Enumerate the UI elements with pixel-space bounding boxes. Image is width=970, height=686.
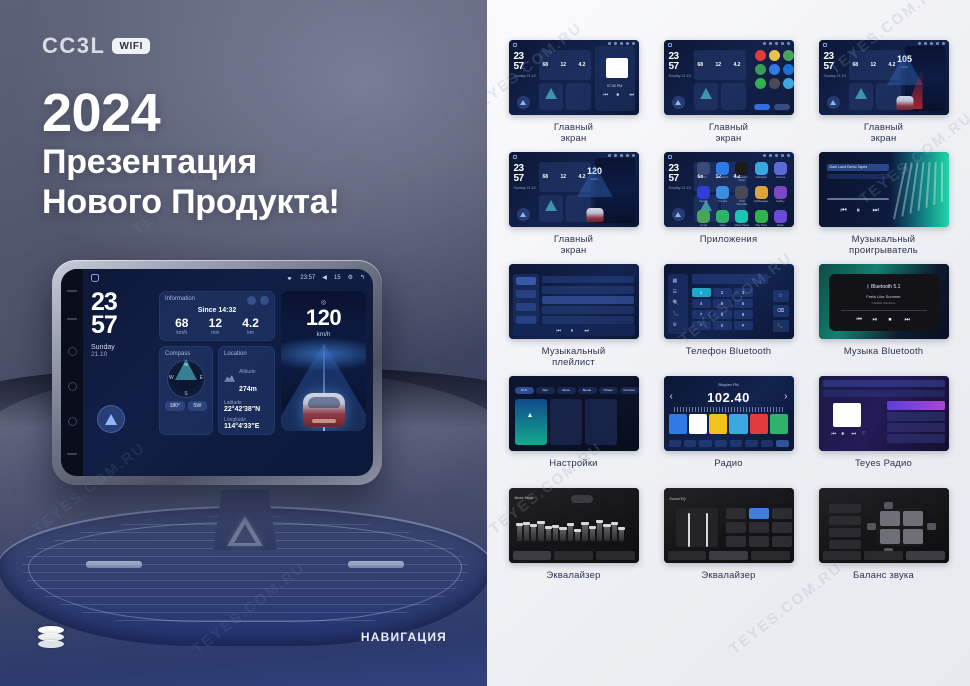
settings-tab[interactable]: Общие <box>599 387 618 394</box>
screenshot-thumbnail-bt-music[interactable]: ᛒ Bluetooth 5.1Feels Like SummerChildish… <box>819 264 949 339</box>
clock-date: Sunday 21.10 <box>514 186 536 191</box>
mini-player[interactable] <box>513 324 635 336</box>
sidebar-icon[interactable]: 🔍 <box>673 300 679 306</box>
toolbar-button[interactable] <box>715 440 727 447</box>
media-button[interactable]: ⏸ <box>571 328 574 334</box>
screenshot-thumbnail-home-apps[interactable]: 2357Sunday 21.1068124.2 <box>664 40 794 115</box>
navigation-arrow-icon[interactable] <box>827 96 840 109</box>
screenshot-thumbnail-player[interactable]: Dark Land Demo Tapes⏮⏸⏭ <box>819 152 949 227</box>
equalizer-band[interactable] <box>604 524 609 541</box>
status-icon <box>608 42 611 45</box>
home-icon[interactable] <box>513 43 517 47</box>
toolbar-button[interactable] <box>745 440 757 447</box>
dialpad-key[interactable]: * <box>692 321 711 330</box>
settings-tab[interactable]: Система <box>620 387 639 394</box>
app-icon[interactable] <box>697 186 710 199</box>
settings-tab[interactable]: Время <box>578 387 597 394</box>
balance-preset[interactable] <box>829 528 861 537</box>
status-icon <box>942 42 945 45</box>
status-icon <box>614 42 617 45</box>
bottom-tab[interactable] <box>751 551 790 560</box>
app-item[interactable]: Bluetooth <box>715 162 731 182</box>
hazard-triangle-inner <box>234 524 256 543</box>
status-icon <box>632 42 635 45</box>
settings-tab[interactable]: Экран <box>557 387 576 394</box>
preset-station[interactable] <box>770 414 788 434</box>
screenshot-thumbnail-dialer[interactable]: ▦☰🔍📞⚙123456789*0#☆⌫📞 <box>664 264 794 339</box>
station-row[interactable] <box>887 412 945 421</box>
side-button-back[interactable] <box>68 417 77 426</box>
vent-knob-left[interactable] <box>86 561 142 568</box>
equalizer-band[interactable] <box>612 522 617 541</box>
filter-tabs[interactable] <box>823 390 945 397</box>
compass-card[interactable]: Compass N E W S <box>159 346 213 435</box>
sidebar-item[interactable] <box>516 277 536 285</box>
dialer-action[interactable]: ⌫ <box>773 305 789 317</box>
radio-toolbar[interactable] <box>669 440 789 447</box>
presentation-slide: TEYES.COM.RU TEYES.COM.RU TEYES.COM.RU T… <box>0 0 970 686</box>
side-button-vol-up[interactable] <box>67 318 77 320</box>
media-button[interactable]: ⏭ <box>873 207 879 215</box>
sidebar-icon[interactable]: ☰ <box>673 289 677 295</box>
clock-widget: 2357 <box>514 52 524 71</box>
bottom-tab[interactable] <box>554 551 593 560</box>
station-row[interactable] <box>887 434 945 443</box>
app-icon[interactable] <box>755 64 766 75</box>
sidebar-icon[interactable]: ▦ <box>673 278 678 284</box>
media-widget[interactable] <box>595 46 635 111</box>
settings-tab[interactable]: Звук <box>536 387 555 394</box>
toolbar-button[interactable] <box>730 440 742 447</box>
radio-frequency: 102.40 <box>707 390 750 405</box>
sidebar-item[interactable] <box>516 290 536 298</box>
longitude-value: 114°4'33"E <box>224 423 269 430</box>
settings-card[interactable] <box>550 399 582 445</box>
navigation-arrow-icon[interactable] <box>517 208 530 221</box>
compass-cone <box>855 88 867 99</box>
status-time: 23:57 <box>300 275 315 281</box>
road-perspective <box>577 165 613 197</box>
bottom-tabs[interactable] <box>668 551 790 560</box>
thumbnail-caption: Приложения <box>700 234 758 258</box>
equalizer-band[interactable] <box>590 526 595 542</box>
information-actions[interactable] <box>247 296 269 305</box>
bottom-tab[interactable] <box>864 551 903 560</box>
settings-tab[interactable]: Wi-Fi <box>515 387 534 394</box>
eq-preset-button[interactable] <box>749 536 769 547</box>
stat-value: 12 <box>716 62 722 68</box>
app-item[interactable]: DVR Recorder <box>734 186 750 206</box>
clock-minutes: 57 <box>514 174 524 184</box>
dialpad-key[interactable]: 4 <box>692 299 711 308</box>
media-button[interactable]: ⏭ <box>630 92 635 98</box>
media-button[interactable]: ⏹ <box>889 317 892 324</box>
gallery-item: 2357Sunday 21.1068124.207:30 PM⏮⏹⏭Главны… <box>499 40 648 146</box>
thumbnail-caption: Музыкальныйплейлист <box>542 346 606 370</box>
station-row[interactable] <box>887 401 945 410</box>
location-card[interactable]: Location Altitude 274m <box>218 346 275 435</box>
location-longitude: Longitude 114°4'33"E <box>224 417 269 430</box>
status-icon <box>769 42 772 45</box>
app-item[interactable]: Wi-Fi <box>696 162 712 182</box>
navigation-arrow-icon[interactable] <box>672 208 685 221</box>
track-row[interactable] <box>542 316 634 324</box>
balance-arrow-right[interactable] <box>927 523 936 530</box>
product-logo: CC3L WIFI <box>42 33 150 59</box>
app-icon[interactable] <box>735 162 748 175</box>
balance-preset[interactable] <box>829 504 861 513</box>
app-item[interactable]: Gmail <box>696 210 712 227</box>
dialpad-key[interactable]: 5 <box>713 299 732 308</box>
toolbar-button[interactable] <box>776 440 788 447</box>
dialpad-key[interactable]: 8 <box>713 310 732 319</box>
track-row[interactable] <box>827 174 889 179</box>
app-label: Maps <box>715 224 731 227</box>
bottom-tab[interactable] <box>668 551 707 560</box>
side-button-power[interactable] <box>67 290 77 292</box>
bottom-tabs[interactable] <box>513 551 635 560</box>
dialer-action[interactable]: ☆ <box>773 290 789 302</box>
settings-card[interactable] <box>515 399 547 445</box>
bottom-tab[interactable] <box>906 551 945 560</box>
preset-station[interactable] <box>669 414 687 434</box>
app-icon[interactable] <box>769 50 780 61</box>
track-row[interactable] <box>542 296 634 304</box>
screenshot-thumbnail-home-dvr[interactable]: 2357Sunday 21.1068124.2105km/h <box>819 40 949 115</box>
home-icon[interactable] <box>91 274 99 282</box>
sidebar-icon[interactable]: 📞 <box>673 311 679 317</box>
app-icon[interactable] <box>774 210 787 223</box>
navigation-arrow-icon[interactable] <box>517 96 530 109</box>
stat-item: 12 min <box>209 317 222 336</box>
thumbnail-caption: Телефон Bluetooth <box>686 346 772 370</box>
app-icon[interactable] <box>755 50 766 61</box>
app-icon[interactable] <box>716 210 729 223</box>
equalizer-band[interactable] <box>597 520 602 541</box>
app-item[interactable]: Play Store <box>753 210 769 227</box>
compass-cone <box>545 200 557 211</box>
app-icon[interactable] <box>755 162 768 175</box>
gallery-item: ⏮⏹⏭♡Teyes Радио <box>809 376 958 482</box>
thumbnail-caption: Радио <box>714 458 742 482</box>
toolbar-button[interactable] <box>699 440 711 447</box>
speed-widget[interactable]: ◎ 120 km/h <box>281 291 366 431</box>
refresh-icon[interactable] <box>247 296 256 305</box>
sidebar-item[interactable] <box>516 316 536 324</box>
bottom-tab[interactable] <box>709 551 748 560</box>
thumbnail-caption: Главныйэкран <box>709 122 748 146</box>
app-item[interactable]: Cleaner <box>696 186 712 206</box>
station-row[interactable] <box>887 423 945 432</box>
equalizer-band[interactable] <box>568 523 573 541</box>
preset-row[interactable] <box>669 414 789 434</box>
equalizer-band[interactable] <box>575 529 580 541</box>
media-button[interactable]: ⏮ <box>557 328 562 334</box>
app-icon[interactable] <box>783 78 794 89</box>
app-label: Wi-Fi <box>696 176 712 179</box>
gallery-item: Bluplan FM102.40‹›Радио <box>654 376 803 482</box>
track-row[interactable] <box>542 306 634 314</box>
eq-preset-button[interactable] <box>772 536 792 547</box>
media-button[interactable]: ♡ <box>862 431 866 437</box>
screenshot-thumbnail-balance[interactable] <box>819 488 949 563</box>
app-icon[interactable] <box>783 50 794 61</box>
prev-station-button[interactable]: ‹ <box>670 391 673 402</box>
gallery-item: Music ModeЭквалайзер <box>499 488 648 594</box>
preset-station[interactable] <box>689 414 707 434</box>
screenshot-thumbnail-settings[interactable]: Wi-FiЗвукЭкранВремяОбщиеСистема▲ <box>509 376 639 451</box>
dialpad-key[interactable]: 6 <box>734 299 753 308</box>
app-grid[interactable]: Wi-FiBluetoothBluetooth MusicCalculatorC… <box>696 162 789 211</box>
tabs[interactable] <box>542 276 634 283</box>
settings-card[interactable] <box>585 399 617 445</box>
bottom-tab[interactable] <box>823 551 862 560</box>
app-icon[interactable] <box>697 162 710 175</box>
quick-toggle[interactable] <box>774 104 790 110</box>
stat-value: 12 <box>209 317 222 329</box>
gear-icon[interactable]: ⚙ <box>348 274 353 281</box>
equalizer-band[interactable] <box>546 526 551 541</box>
media-button[interactable]: ⏸ <box>857 207 861 215</box>
wifi-icon <box>286 275 293 281</box>
app-label: Gallery <box>772 200 788 203</box>
next-station-button[interactable]: › <box>784 391 787 402</box>
app-icon[interactable] <box>783 64 794 75</box>
eq-preset-button[interactable] <box>772 522 792 533</box>
vent-knob-right[interactable] <box>348 561 404 568</box>
toolbar-button[interactable] <box>761 440 773 447</box>
status-bar <box>608 154 635 157</box>
screenshot-thumbnail-eq-bars[interactable]: Music Mode <box>509 488 639 563</box>
media-button[interactable]: ⏭ <box>905 317 910 324</box>
stat-value: 12 <box>561 62 567 68</box>
home-icon[interactable] <box>823 43 827 47</box>
screenshot-thumbnail-apps[interactable]: 2357Sunday 21.1068124.2Wi-FiBluetoothBlu… <box>664 152 794 227</box>
status-icon <box>632 154 635 157</box>
equalizer-band[interactable] <box>538 521 543 541</box>
equalizer-band[interactable] <box>560 527 565 541</box>
dialer-action[interactable]: 📞 <box>773 320 789 332</box>
equalizer-band[interactable] <box>582 522 587 541</box>
album-art <box>606 58 628 78</box>
media-button[interactable]: ⏮ <box>832 431 837 437</box>
toolbar-button[interactable] <box>684 440 696 447</box>
gallery-item: Sound EQЭквалайзер <box>654 488 803 594</box>
equalizer-bars[interactable] <box>517 510 625 541</box>
eq-preset-button[interactable] <box>726 508 746 519</box>
eq-preset-button[interactable] <box>726 522 746 533</box>
fader-panel[interactable] <box>676 508 718 547</box>
gallery-item: ▦☰🔍📞⚙123456789*0#☆⌫📞Телефон Bluetooth <box>654 264 803 370</box>
dialpad-key[interactable]: # <box>734 321 753 330</box>
app-item[interactable]: Camera <box>772 162 788 182</box>
preset-label: Music Mode <box>515 496 534 500</box>
car-model-icon <box>896 96 913 110</box>
dialpad-key[interactable]: 0 <box>713 321 732 330</box>
screenshot-thumbnail-playlist[interactable]: ⏮⏸⏭ <box>509 264 639 339</box>
screen-side-buttons[interactable] <box>61 269 83 476</box>
information-card[interactable]: Information Since 14:32 <box>159 291 275 341</box>
preset-pill[interactable] <box>571 495 593 503</box>
app-label: Calculator <box>753 176 769 179</box>
app-icon[interactable] <box>735 186 748 199</box>
balance-preset[interactable] <box>829 516 861 525</box>
bottom-tab[interactable] <box>513 551 552 560</box>
navigation-arrow-icon[interactable] <box>97 405 125 433</box>
toolbar-button[interactable] <box>669 440 681 447</box>
bottom-tab[interactable] <box>596 551 635 560</box>
side-button-vol-down[interactable] <box>67 453 77 455</box>
app-icon[interactable] <box>755 186 768 199</box>
status-icon <box>781 42 784 45</box>
top-tabs[interactable] <box>823 380 945 387</box>
eq-preset-button[interactable] <box>772 508 792 519</box>
status-icon <box>787 154 790 157</box>
head-unit-screen[interactable]: 23:57 ◀ 15 ⚙ ↰ 23 57 Sunday 21.10 <box>61 269 373 476</box>
status-icon <box>781 154 784 157</box>
screenshot-thumbnail-home-media[interactable]: 2357Sunday 21.1068124.207:30 PM⏮⏹⏭ <box>509 40 639 115</box>
fader-slider[interactable] <box>688 513 690 547</box>
home-icon[interactable] <box>513 155 517 159</box>
tuning-scale[interactable] <box>674 407 784 412</box>
clock-widget: 2357 <box>669 52 679 71</box>
media-button[interactable]: ⏯ <box>873 317 878 324</box>
app-icon[interactable] <box>697 210 710 223</box>
thumbnail-caption: Teyes Радио <box>855 458 912 482</box>
speed-unit: km/h <box>316 331 330 338</box>
balance-preset[interactable] <box>829 540 861 549</box>
dialpad-key[interactable]: 3 <box>734 288 753 297</box>
app-item[interactable]: Maps <box>715 210 731 227</box>
preset-station[interactable] <box>709 414 727 434</box>
eq-preset-button[interactable] <box>726 536 746 547</box>
clock-widget: 2357 <box>514 164 524 183</box>
thumbnail-caption: Главныйэкран <box>554 234 593 258</box>
altitude-value: 274m <box>239 386 257 393</box>
quick-toggle[interactable] <box>754 104 770 110</box>
app-icon[interactable] <box>755 210 768 223</box>
layers-icon[interactable] <box>38 626 64 648</box>
equalizer-band[interactable] <box>531 524 536 541</box>
app-icon[interactable] <box>774 186 787 199</box>
dialpad-key[interactable]: 9 <box>734 310 753 319</box>
stat-value: 4.2 <box>579 62 586 68</box>
thumbnail-caption: Баланс звука <box>853 570 914 594</box>
compass-cone <box>700 88 712 99</box>
car-dashboard: 23:57 ◀ 15 ⚙ ↰ 23 57 Sunday 21.10 <box>0 248 487 686</box>
app-label: FileManager <box>753 200 769 203</box>
app-item[interactable]: Gallery <box>772 186 788 206</box>
compass-values: 180° SW <box>165 401 207 411</box>
location-card[interactable] <box>566 83 591 110</box>
headline-line-2: Нового Продукта! <box>42 182 340 222</box>
dialpad-key[interactable]: 7 <box>692 310 711 319</box>
preset-station[interactable] <box>750 414 768 434</box>
equalizer-band[interactable] <box>553 525 558 541</box>
gallery-item: 2357Sunday 21.1068124.2120km/hГлавныйэкр… <box>499 152 648 258</box>
compass-dial: N E W S <box>167 360 205 398</box>
location-card[interactable] <box>721 83 746 110</box>
app-icon[interactable] <box>774 162 787 175</box>
app-icon[interactable] <box>755 78 766 89</box>
dialpad-key[interactable]: 1 <box>692 288 711 297</box>
dialpad-key[interactable]: 2 <box>713 288 732 297</box>
information-since: Since 14:32 <box>165 307 269 314</box>
status-icon <box>918 42 921 45</box>
media-button[interactable]: ⏭ <box>585 328 590 334</box>
stat-value: 4.2 <box>242 317 259 329</box>
back-arrow-icon[interactable]: ↰ <box>360 274 365 281</box>
stat-value: 68 <box>698 62 704 68</box>
fader-slider[interactable] <box>706 513 708 547</box>
equalizer-band[interactable] <box>619 527 624 541</box>
media-button[interactable]: ⏮ <box>857 317 862 324</box>
app-item[interactable]: Contact <box>715 186 731 206</box>
progress-bar[interactable] <box>827 198 889 200</box>
bottom-tabs[interactable] <box>823 551 945 560</box>
balance-arrow-top[interactable] <box>884 502 893 509</box>
expand-icon[interactable] <box>260 296 269 305</box>
media-button[interactable]: ⏹ <box>842 431 845 437</box>
equalizer-band[interactable] <box>524 522 529 541</box>
screenshot-thumbnail-eq-simple[interactable]: Sound EQ <box>664 488 794 563</box>
track-row[interactable] <box>542 286 634 294</box>
status-icon <box>787 42 790 45</box>
app-item[interactable]: Bluetooth Music <box>734 162 750 182</box>
app-icon[interactable] <box>716 186 729 199</box>
speaker-icon <box>880 529 900 544</box>
equalizer-band[interactable] <box>517 523 522 541</box>
clock-widget: 23 57 Sunday 21.10 <box>91 291 153 431</box>
sidebar-item[interactable] <box>516 303 536 311</box>
home-icon[interactable] <box>668 43 672 47</box>
app-item[interactable]: Music Player <box>734 210 750 227</box>
eq-preset-button[interactable] <box>749 508 769 519</box>
app-item[interactable]: FileManager <box>753 186 769 206</box>
app-item[interactable]: Calculator <box>753 162 769 182</box>
gallery-item: Wi-FiЗвукЭкранВремяОбщиеСистема▲Настройк… <box>499 376 648 482</box>
screenshot-thumbnail-teyes-radio[interactable]: ⏮⏹⏭♡ <box>819 376 949 451</box>
progress-bar[interactable] <box>841 310 927 311</box>
track-title: Dark Land Demo Tapes <box>830 165 868 169</box>
status-icon <box>626 154 629 157</box>
sidebar-icon[interactable]: ⚙ <box>673 322 677 328</box>
app-icon[interactable] <box>716 162 729 175</box>
side-button-menu[interactable] <box>68 382 77 391</box>
app-icon[interactable] <box>769 78 780 89</box>
navigation-arrow-icon[interactable] <box>672 96 685 109</box>
media-button[interactable]: ⏹ <box>617 92 620 98</box>
app-icon[interactable] <box>735 210 748 223</box>
information-header: Information <box>165 296 269 305</box>
home-icon[interactable] <box>668 155 672 159</box>
status-icon <box>775 154 778 157</box>
clock-minutes: 57 <box>514 62 524 72</box>
media-button[interactable]: ⏭ <box>852 431 857 437</box>
screenshot-thumbnail-radio[interactable]: Bluplan FM102.40‹› <box>664 376 794 451</box>
media-button[interactable]: ⏮ <box>841 207 847 215</box>
watermark: TEYES.COM.RU <box>329 9 448 107</box>
logo-model: CC3L <box>42 33 105 59</box>
media-button[interactable]: ⏮ <box>604 92 609 98</box>
screenshot-thumbnail-home-speed[interactable]: 2357Sunday 21.1068124.2120km/h <box>509 152 639 227</box>
eq-preset-button[interactable] <box>749 522 769 533</box>
app-item[interactable]: Radio <box>772 210 788 227</box>
balance-arrow-left[interactable] <box>867 523 876 530</box>
app-icon[interactable] <box>769 64 780 75</box>
preset-station[interactable] <box>729 414 747 434</box>
side-button-home[interactable] <box>68 347 77 356</box>
